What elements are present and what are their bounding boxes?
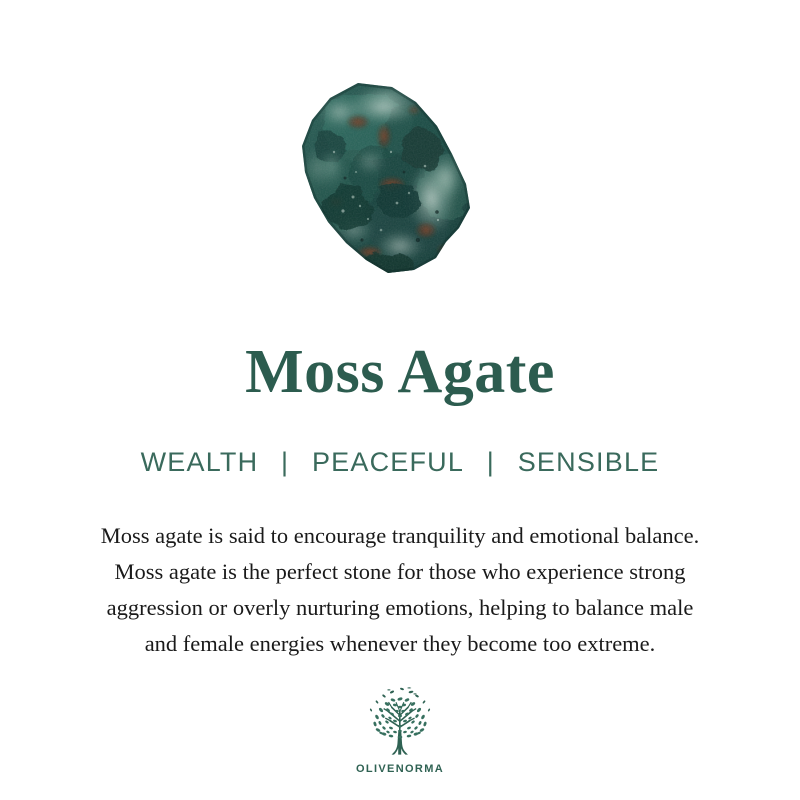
- description-line: Moss agate is the perfect stone for thos…: [40, 554, 760, 590]
- olive-tree-icon: [357, 686, 443, 760]
- moss-agate-stone-icon: [296, 80, 472, 276]
- description-line: and female energies whenever they become…: [40, 626, 760, 662]
- brand-wordmark: OLIVENORMA: [356, 763, 444, 775]
- product-info-card: Moss Agate WEALTH | PEACEFUL | SENSIBLE …: [0, 0, 800, 800]
- keyword-sensible: SENSIBLE: [518, 444, 660, 480]
- keyword-list: WEALTH | PEACEFUL | SENSIBLE: [0, 444, 800, 480]
- keyword-wealth: WEALTH: [141, 444, 259, 480]
- keyword-separator-1: |: [267, 444, 303, 480]
- keyword-peaceful: PEACEFUL: [312, 444, 464, 480]
- page-title: Moss Agate: [0, 336, 800, 408]
- description-line: Moss agate is said to encourage tranquil…: [40, 518, 760, 554]
- keyword-separator-2: |: [473, 444, 509, 480]
- description-line: aggression or overly nurturing emotions,…: [40, 590, 760, 626]
- brand-logo: OLIVENORMA: [0, 686, 800, 775]
- product-description: Moss agate is said to encourage tranquil…: [40, 518, 760, 662]
- moss-agate-stone-image: [296, 80, 472, 276]
